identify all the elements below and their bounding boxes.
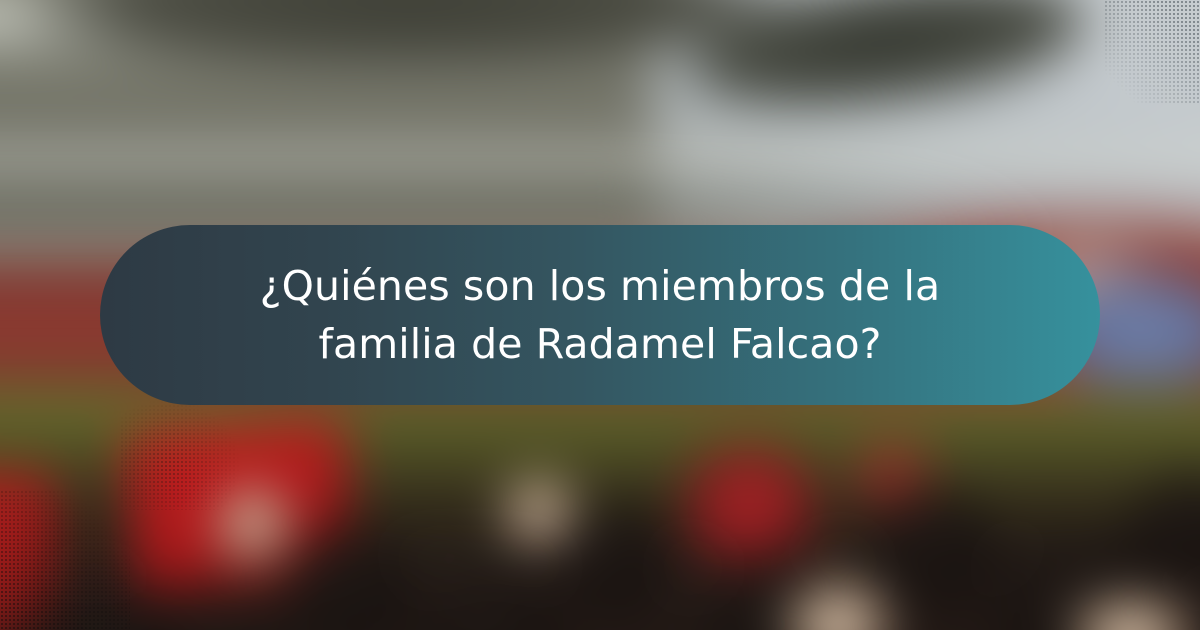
- crowd-head-silhouette: [872, 489, 994, 608]
- title-pill: ¿Quiénes son los miembros de la familia …: [100, 225, 1100, 405]
- crowd-arm-highlight: [219, 489, 287, 560]
- stand-fascia-stripe: [0, 141, 1200, 177]
- crowd-head-silhouette: [287, 528, 409, 630]
- social-card: ¿Quiénes son los miembros de la familia …: [0, 0, 1200, 630]
- red-shirt-fan: [682, 441, 818, 567]
- page-title: ¿Quiénes son los miembros de la familia …: [230, 257, 970, 373]
- stadium-roof-mass: [29, 0, 791, 70]
- crowd-head-silhouette: [559, 505, 668, 616]
- crowd-skin-highlight: [505, 481, 573, 544]
